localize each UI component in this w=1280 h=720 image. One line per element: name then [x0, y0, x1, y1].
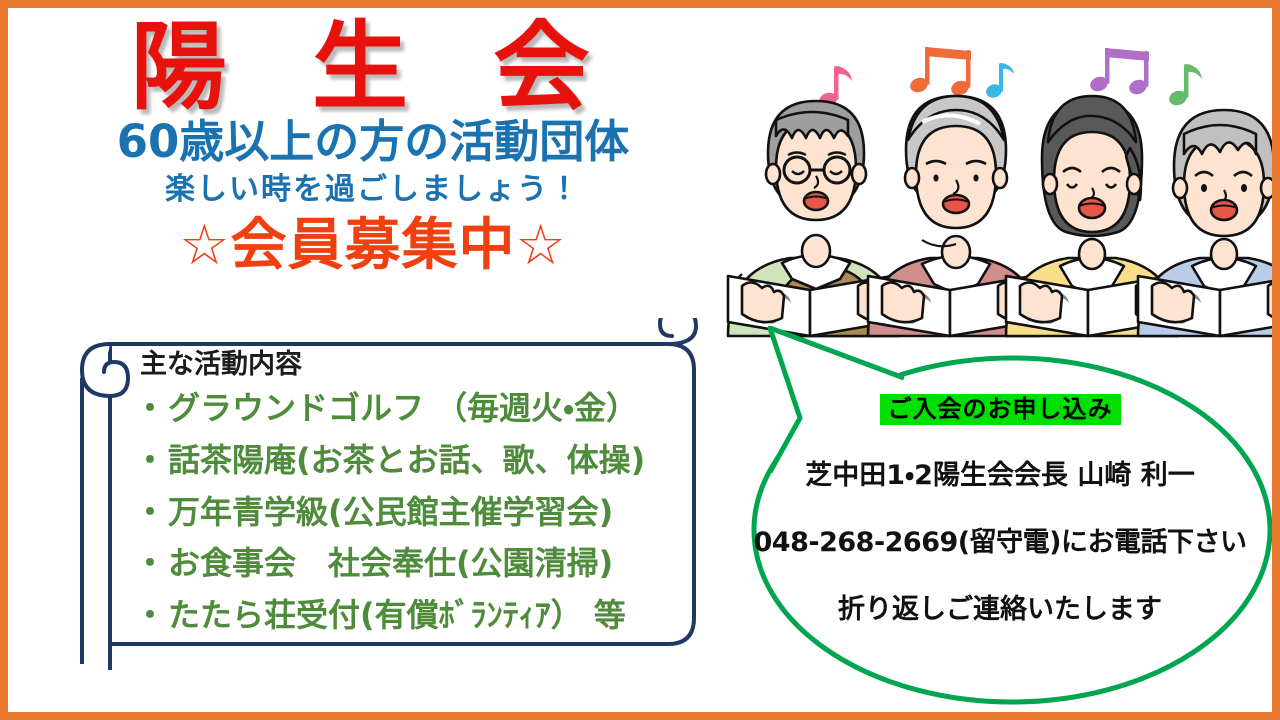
list-bullet: ・	[134, 435, 166, 487]
recruit-banner: ☆会員募集中☆	[28, 214, 718, 278]
person-gray-hair-blue-top	[1138, 110, 1272, 336]
headline-block: 陽 生 会 60歳以上の方の活動団体 楽しい時を過ごしましょう！ ☆会員募集中☆	[28, 14, 718, 278]
music-note-blue-icon	[984, 63, 1014, 100]
page-title: 陽 生 会	[28, 14, 718, 122]
membership-application-badge: ご入会のお申し込み	[880, 394, 1121, 425]
list-item: ・お食事会 社会奉仕(公園清掃)	[134, 538, 714, 590]
list-item: ・話茶陽庵(お茶とお話、歌、体操)	[134, 435, 714, 487]
list-item-label: たたら荘受付(有償ﾎﾞﾗﾝﾃｨｱ） 等	[168, 596, 626, 634]
list-bullet: ・	[134, 487, 166, 539]
contact-callback-line: 折り返しご連絡いたします	[752, 587, 1248, 626]
contact-phone-line[interactable]: 048-268-2669(留守電)にお電話下さい	[752, 520, 1248, 559]
activities-content: 主な活動内容 ・グラウンドゴルフ （毎週火・金） ・話茶陽庵(お茶とお話、歌、体…	[134, 342, 714, 642]
list-bullet: ・	[134, 590, 166, 642]
list-item: ・グラウンドゴルフ （毎週火・金）	[134, 383, 714, 435]
contact-speech-bubble: ご入会のお申し込み 芝中田1・2陽生会会長 山崎 利一 048-268-2669…	[726, 326, 1274, 708]
music-note-green-icon	[1167, 64, 1202, 108]
activities-scroll: 主な活動内容 ・グラウンドゴルフ （毎週火・金） ・話茶陽庵(お茶とお話、歌、体…	[48, 318, 724, 670]
music-notes	[817, 47, 1202, 110]
list-bullet: ・	[134, 383, 166, 435]
music-note-purple-icon	[1088, 48, 1149, 97]
contact-content: ご入会のお申し込み 芝中田1・2陽生会会長 山崎 利一 048-268-2669…	[752, 394, 1248, 626]
list-item-label: お食事会 社会奉仕(公園清掃)	[168, 544, 613, 582]
list-item-label: 話茶陽庵(お茶とお話、歌、体操)	[168, 441, 645, 479]
singers-illustration	[706, 18, 1272, 338]
music-note-orange-icon	[908, 47, 971, 98]
list-item: ・たたら荘受付(有償ﾎﾞﾗﾝﾃｨｱ） 等	[134, 590, 714, 642]
subtitle: 60歳以上の方の活動団体	[28, 116, 718, 168]
list-bullet: ・	[134, 538, 166, 590]
list-item-label: 万年青学級(公民館主催学習会)	[168, 493, 613, 531]
activities-heading: 主な活動内容	[140, 342, 714, 381]
activities-list: ・グラウンドゴルフ （毎週火・金） ・話茶陽庵(お茶とお話、歌、体操) ・万年青…	[134, 383, 714, 642]
list-item: ・万年青学級(公民館主催学習会)	[134, 487, 714, 539]
contact-name-line: 芝中田1・2陽生会会長 山崎 利一	[752, 453, 1248, 492]
poster-root: 陽 生 会 60歳以上の方の活動団体 楽しい時を過ごしましょう！ ☆会員募集中☆	[0, 0, 1280, 720]
tagline: 楽しい時を過ごしましょう！	[28, 172, 718, 208]
list-item-label: グラウンドゴルフ （毎週火・金）	[168, 389, 638, 427]
